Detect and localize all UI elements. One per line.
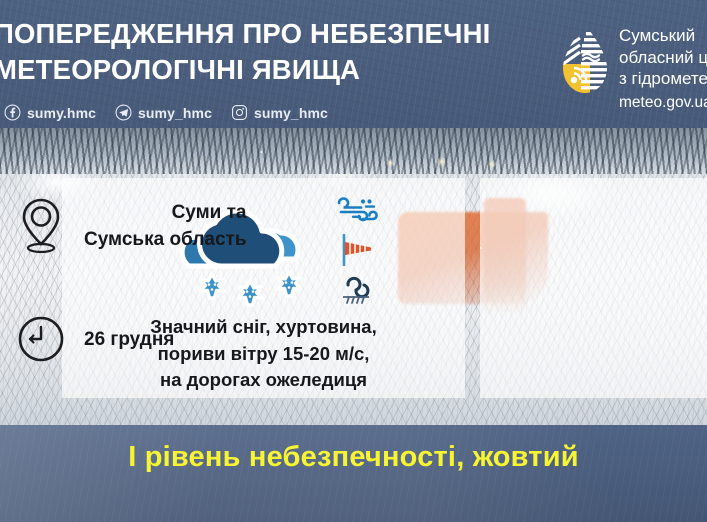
black-ice-road-icon [333, 271, 379, 305]
organization-logo-block: Сумський обласний центр з гідрометеороло… [560, 24, 707, 114]
datetime-row: 26 грудня [0, 314, 227, 364]
location-row: Суми та Сумська область [0, 196, 227, 256]
organization-name: Сумський обласний центр з гідрометеороло… [619, 24, 707, 114]
telegram-icon [115, 104, 132, 121]
social-link-instagram[interactable]: sumy_hmc [231, 104, 328, 121]
warning-line-3: на дорогах ожеледиця [62, 367, 465, 394]
location-line-1: Суми та [84, 199, 247, 226]
logo-line-1: Сумський [619, 25, 707, 47]
weather-warning-poster: ПОПЕРЕДЖЕННЯ ПРО НЕБЕЗПЕЧНІ МЕТЕОРОЛОГІЧ… [0, 0, 707, 522]
logo-line-3: з гідрометеорології [619, 68, 707, 90]
page-title: ПОПЕРЕДЖЕННЯ ПРО НЕБЕЗПЕЧНІ МЕТЕОРОЛОГІЧ… [0, 16, 554, 88]
clock-icon [16, 314, 66, 364]
facebook-icon [4, 104, 21, 121]
details-panel [480, 178, 707, 398]
social-link-telegram[interactable]: sumy_hmc [115, 104, 212, 121]
datetime-text: 26 грудня [84, 326, 174, 353]
instagram-icon [231, 104, 248, 121]
social-handle-instagram: sumy_hmc [254, 105, 328, 121]
logo-line-2: обласний центр [619, 47, 707, 69]
danger-level-label: І рівень небезпечності, жовтий [0, 441, 707, 474]
location-text: Суми та Сумська область [84, 199, 247, 253]
windsock-icon [333, 232, 379, 266]
header-band: ПОПЕРЕДЖЕННЯ ПРО НЕБЕЗПЕЧНІ МЕТЕОРОЛОГІЧ… [0, 0, 707, 128]
footer-band: І рівень небезпечності, жовтий [0, 425, 707, 522]
logo-website: meteo.gov.ua [619, 90, 707, 114]
map-pin-icon [16, 196, 66, 256]
secondary-icon-stack [333, 193, 379, 305]
social-link-facebook[interactable]: sumy.hmc [4, 104, 96, 121]
blizzard-wind-icon [333, 193, 379, 227]
social-handle-telegram: sumy_hmc [138, 105, 212, 121]
title-line-2: МЕТЕОРОЛОГІЧНІ ЯВИЩА [0, 52, 554, 88]
social-handle-facebook: sumy.hmc [27, 105, 96, 121]
water-droplet-logo-icon [560, 24, 610, 96]
title-line-1: ПОПЕРЕДЖЕННЯ ПРО НЕБЕЗПЕЧНІ [0, 16, 554, 52]
location-line-2: Сумська область [84, 226, 247, 253]
social-links: sumy.hmc sumy_hmc sumy_hmc [4, 104, 328, 121]
